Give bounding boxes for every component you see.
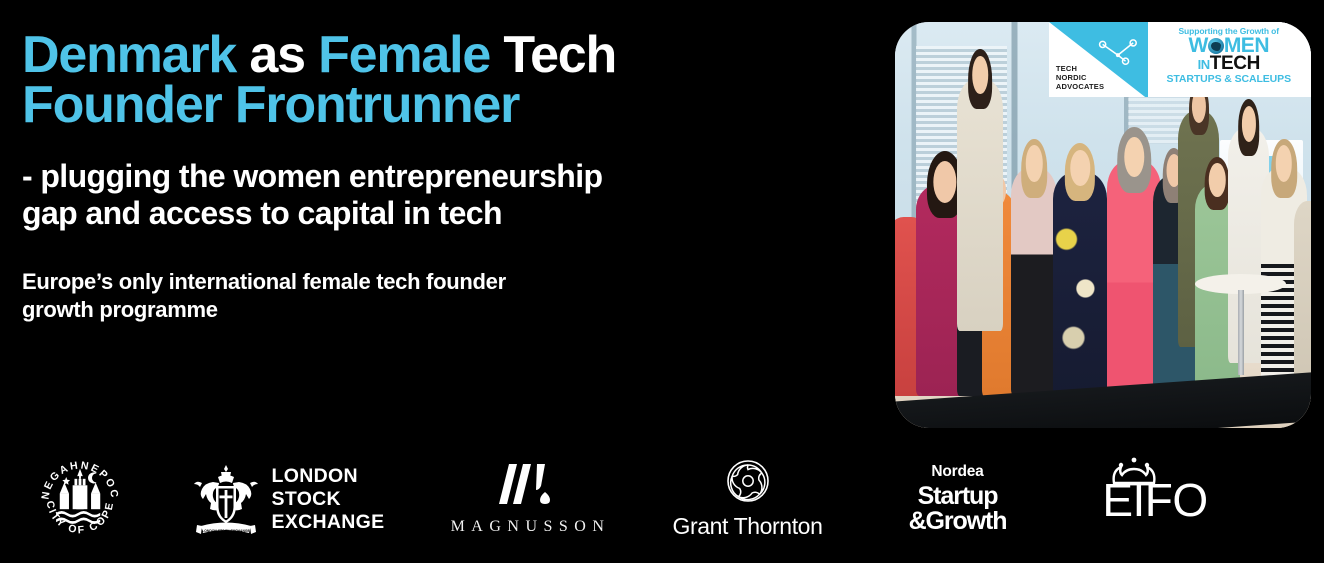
magnusson-mark-icon	[495, 464, 559, 504]
promo-banner: Denmark as Female Tech Founder Frontrunn…	[0, 0, 1324, 563]
grant-thornton-swirl-icon	[726, 459, 770, 503]
crown-icon	[1108, 457, 1160, 487]
tagline-line-1: Europe’s only international female tech …	[22, 268, 902, 296]
title-word-as: as	[249, 26, 304, 84]
subtitle-line-1: - plugging the women entrepreneurship	[22, 158, 902, 195]
title-line-2: Founder Frontrunner	[22, 80, 902, 130]
tna-line-2: NORDIC	[1056, 73, 1104, 82]
badge-in-text: IN	[1198, 57, 1210, 72]
nordea-wordmark: Nordea	[909, 464, 1007, 480]
grant-thornton-wordmark: Grant Thornton	[673, 513, 823, 540]
title-word-female: Female	[318, 26, 490, 84]
magnusson-wordmark: MAGNUSSON	[445, 518, 611, 536]
person	[957, 79, 1003, 331]
page-title: Denmark as Female Tech Founder Frontrunn…	[22, 30, 902, 131]
women-in-tech-logo: Supporting the Growth of WMEN INTECH STA…	[1148, 22, 1311, 97]
lse-coat-of-arms-icon: LONDON STOCK EXCHANGE	[191, 462, 261, 538]
partner-logo-magnusson: MAGNUSSON	[415, 436, 640, 563]
lse-line-2: STOCK	[272, 488, 385, 511]
startup-growth-wordmark: Startup &Growth	[909, 484, 1007, 535]
text-column: Denmark as Female Tech Founder Frontrunn…	[22, 0, 902, 323]
tna-line-3: ADVOCATES	[1056, 82, 1104, 91]
partner-logo-grant-thornton: Grant Thornton	[640, 436, 855, 563]
table-leg	[1238, 290, 1244, 375]
tna-wordmark: TECH NORDIC ADVOCATES	[1056, 64, 1104, 91]
partner-logo-nordea-startup-growth: Nordea Startup &Growth	[855, 436, 1060, 563]
copenhagen-seal-icon: NEGAHNEPOC CITY OF COPE	[34, 454, 126, 546]
badge-in-tech-text: INTECH	[1152, 55, 1305, 72]
badge-women-text: WMEN	[1152, 36, 1305, 55]
partner-logo-row: NEGAHNEPOC CITY OF COPE	[0, 436, 1324, 563]
badge-scaleups-text: STARTUPS & SCALEUPS	[1152, 73, 1305, 86]
svg-text:LONDON STOCK EXCHANGE: LONDON STOCK EXCHANGE	[202, 529, 250, 533]
nordea-line-2: &Growth	[909, 509, 1007, 535]
partner-logo-city-of-copenhagen: NEGAHNEPOC CITY OF COPE	[0, 436, 160, 563]
title-word-tech: Tech	[503, 26, 616, 84]
lse-line-1: LONDON	[272, 465, 385, 488]
copenhagen-seal-svg: NEGAHNEPOC CITY OF COPE	[34, 454, 126, 546]
partner-logo-london-stock-exchange: LONDON STOCK EXCHANGE LONDON STOCK EXCHA…	[160, 436, 415, 563]
subtitle: - plugging the women entrepreneurship ga…	[22, 158, 902, 232]
person	[1053, 172, 1107, 395]
nordea-line-1: Startup	[909, 484, 1007, 510]
badge-women-pre: W	[1188, 34, 1207, 57]
person	[1011, 168, 1057, 395]
event-photo: TECH NORDIC ADVOCATES Supporting the Gro…	[895, 22, 1311, 428]
tagline-line-2: growth programme	[22, 296, 902, 324]
globe-icon	[1208, 38, 1224, 54]
lse-line-3: EXCHANGE	[272, 511, 385, 534]
lse-wordmark: LONDON STOCK EXCHANGE	[272, 465, 385, 533]
women-in-tech-badge: TECH NORDIC ADVOCATES Supporting the Gro…	[1049, 22, 1311, 97]
person	[1294, 201, 1311, 396]
tna-line-1: TECH	[1056, 64, 1104, 73]
tech-nordic-advocates-logo: TECH NORDIC ADVOCATES	[1049, 22, 1149, 97]
partner-logo-eifo: EIFO	[1060, 436, 1250, 563]
badge-women-post: MEN	[1224, 34, 1269, 57]
subtitle-line-2: gap and access to capital in tech	[22, 195, 902, 232]
title-word-denmark: Denmark	[22, 26, 236, 84]
tagline: Europe’s only international female tech …	[22, 268, 902, 323]
